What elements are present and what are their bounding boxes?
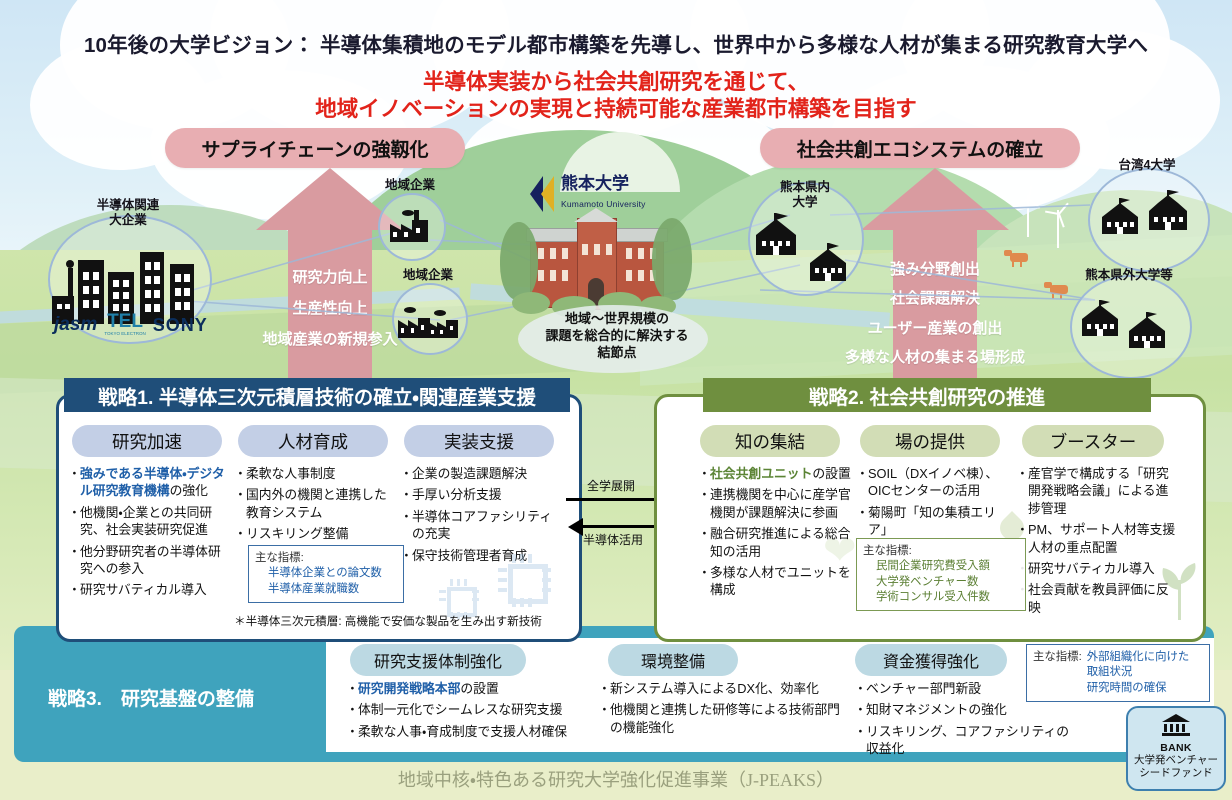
list-item: SOIL（DXイノベ棟）、OICセンターの活用: [858, 465, 1010, 500]
university-icon-taiwan-1: [1098, 198, 1150, 236]
university-icon-outside-2: [1125, 312, 1177, 350]
strategy3-column-environment: 新システム導入によるDX化、効率化 他機関と連携した研修等による技術部門の機能強…: [600, 680, 848, 740]
factory-icon-1: [388, 208, 432, 244]
list-item: 連携機関を中心に産学官機関が課題解決に参画: [700, 486, 852, 521]
strategy3-kpi-label: 主な指標:: [1033, 650, 1082, 665]
list-item: PM、サポート人材等支援人材の重点配置: [1018, 521, 1176, 556]
company-logo-sony: SONY: [153, 315, 208, 336]
strategy1-chip-research-accel: 研究加速: [72, 425, 222, 457]
label-semiconductor-companies: 半導体関連 大企業: [58, 198, 198, 228]
strategy3-kpi-box: 主な指標: 外部組織化に向けた 取組状況 研究時間の確保: [1026, 644, 1210, 702]
strategy2-chip-booster: ブースター: [1022, 425, 1164, 457]
list-item: 研究サバティカル導入: [1018, 560, 1176, 577]
factory-icon-2: [396, 300, 462, 340]
strategy3-kpi-item-2: 研究時間の確保: [1087, 681, 1190, 696]
exchange-label-top: 全学展開: [587, 477, 635, 494]
strategy2-title: 戦略2. 社会共創研究の推進: [703, 378, 1151, 412]
semiconductor-label-line1: 半導体関連: [58, 198, 198, 213]
strategy1-kpi-box: 主な指標: 半導体企業との論文数 半導体産業就職数: [248, 545, 404, 603]
tree-right: [652, 218, 692, 300]
list-item: 多様な人材でユニットを構成: [700, 564, 852, 599]
list-item: 融合研究推進による総合知の活用: [700, 525, 852, 560]
label-taiwan-universities: 台湾4大学: [1090, 158, 1204, 173]
university-icon-outside-1: [1078, 300, 1130, 338]
strategy2-kpi-item-2: 学術コンサル受入件数: [863, 590, 1019, 605]
strategy1-kpi-item-0: 半導体企業との論文数: [255, 566, 397, 581]
strategy2-column-venue: SOIL（DXイノベ棟）、OICセンターの活用 菊陽町「知の集積エリア」: [858, 465, 1010, 543]
list-item: 社会共創ユニットの設置: [700, 465, 852, 482]
strategy1-title: 戦略1. 半導体三次元積層技術の確立・関連産業支援: [64, 378, 570, 412]
list-item: 新システム導入によるDX化、効率化: [600, 680, 848, 697]
strategy2-column-booster: 産官学で構成する「研究開発戦略会議」による進捗管理 PM、サポート人材等支援人材…: [1018, 465, 1176, 620]
list-item: 半導体コアファシリティの充実: [402, 508, 562, 543]
company-logo-tel: TEL: [104, 312, 145, 331]
strategy1-footnote: ＊半導体三次元積層: 高機能で安価な製品を生み出す新技術: [234, 613, 542, 629]
strategy1-chip-implementation: 実装支援: [404, 425, 554, 457]
bank-icon-label: BANK: [1128, 742, 1224, 754]
strategy2-kpi-item-0: 民間企業研究費受入額: [863, 559, 1019, 574]
strategy3-kpi-item-0: 外部組織化に向けた: [1087, 650, 1190, 665]
kumamoto-pref-univ-line2: 大学: [758, 195, 852, 210]
kumamoto-pref-univ-line1: 熊本県内: [758, 180, 852, 195]
strategy3-chip-research-support: 研究支援体制強化: [350, 644, 526, 676]
footer-program-name: 地域中核・特色ある研究大学強化促進事業（J-PEAKS）: [0, 766, 1232, 792]
kumamoto-logo-en: Kumamoto University: [561, 199, 646, 209]
strategy3-title: 戦略3. 研究基盤の整備: [48, 684, 254, 711]
node-caption-line2: 課題を総合的に解決する: [512, 327, 722, 344]
label-kumamoto-pref-universities: 熊本県内 大学: [758, 180, 852, 210]
list-item: 研究開発戦略本部の設置: [348, 680, 580, 697]
list-item: 体制一元化でシームレスな研究支援: [348, 701, 580, 718]
university-building-illustration: [530, 218, 662, 310]
list-item: 他機関と連携した研修等による技術部門の機能強化: [600, 701, 848, 736]
strategy2-chip-knowledge: 知の集結: [700, 425, 840, 457]
strategy3-column-research-support: 研究開発戦略本部の設置 体制一元化でシームレスな研究支援 柔軟な人事・育成制度で…: [348, 680, 580, 744]
semiconductor-label-line2: 大企業: [58, 213, 198, 228]
list-item: 他機関・企業との共同研究、社会実装研究促進: [70, 504, 230, 539]
strategy2-kpi-item-1: 大学発ベンチャー数: [863, 575, 1019, 590]
strategy2-kpi-box: 主な指標: 民間企業研究費受入額 大学発ベンチャー数 学術コンサル受入件数: [856, 538, 1026, 611]
tree-left: [500, 222, 538, 300]
kumamoto-chevron-icon: [530, 176, 556, 212]
list-item: 手厚い分析支援: [402, 486, 562, 503]
exchange-label-bottom: 半導体活用: [583, 531, 643, 548]
list-item: 強みである半導体・デジタル研究教育機構の強化: [70, 465, 230, 500]
list-item: リスキリング、コアファシリティの収益化: [856, 723, 1076, 758]
list-item: 産官学で構成する「研究開発戦略会議」による進捗管理: [1018, 465, 1176, 517]
strategy2-chip-venue: 場の提供: [860, 425, 1000, 457]
university-icon-taiwan-2: [1144, 190, 1200, 232]
bank-glyph: [1161, 713, 1191, 737]
strategy1-column-research-accel: 強みである半導体・デジタル研究教育機構の強化 他機関・企業との共同研究、社会実装…: [70, 465, 230, 603]
strategy3-chip-funding: 資金獲得強化: [855, 644, 1007, 676]
strategy1-kpi-label: 主な指標:: [255, 551, 397, 566]
bank-icon: [1128, 713, 1224, 742]
list-item: 研究サバティカル導入: [70, 581, 230, 598]
kumamoto-university-logo: 熊本大学 Kumamoto University: [530, 175, 646, 212]
strategy2-column-knowledge: 社会共創ユニットの設置 連携機関を中心に産学官機関が課題解決に参画 融合研究推進…: [700, 465, 852, 603]
list-item: 国内外の機関と連携した教育システム: [236, 486, 394, 521]
list-item: 他分野研究者の半導体研究への参入: [70, 543, 230, 578]
node-caption-line3: 結節点: [512, 344, 722, 361]
label-local-company-2: 地域企業: [382, 268, 474, 283]
list-item: 菊陽町「知の集積エリア」: [858, 504, 1010, 539]
strategy1-chip-talent: 人材育成: [238, 425, 388, 457]
list-item: 柔軟な人事制度: [236, 465, 394, 482]
infographic-canvas: 10年後の大学ビジョン： 半導体集積地のモデル都市構築を先導し、世界中から多様な…: [0, 0, 1232, 800]
list-item: リスキリング整備: [236, 525, 394, 542]
strategy2-kpi-label: 主な指標:: [863, 544, 1019, 559]
strategy3-chip-environment: 環境整備: [608, 644, 738, 676]
university-icon-pref-1: [750, 213, 812, 257]
list-item: 社会貢献を教員評価に反映: [1018, 581, 1176, 616]
university-icon-pref-2: [805, 243, 861, 283]
company-logos: jasm TEL TOKYO ELECTRON SONY: [54, 312, 208, 336]
node-caption-line1: 地域～世界規模の: [512, 310, 722, 327]
list-item: 企業の製造課題解決: [402, 465, 562, 482]
node-caption: 地域～世界規模の 課題を総合的に解決する 結節点: [512, 310, 722, 361]
list-item: 知財マネジメントの強化: [856, 701, 1076, 718]
company-logo-jasm: jasm: [54, 314, 97, 336]
company-logo-tel-sub: TOKYO ELECTRON: [104, 331, 145, 336]
label-local-company-1: 地域企業: [368, 178, 452, 193]
list-item: 柔軟な人事・育成制度で支援人材確保: [348, 723, 580, 740]
microchip-icon-large: [496, 552, 552, 608]
label-outside-pref-universities: 熊本県外大学等: [1062, 268, 1196, 283]
strategy3-kpi-item-1: 取組状況: [1087, 665, 1190, 680]
strategy1-column-talent: 柔軟な人事制度 国内外の機関と連携した教育システム リスキリング整備: [236, 465, 394, 547]
kumamoto-logo-jp: 熊本大学: [561, 174, 629, 193]
strategy1-kpi-item-1: 半導体産業就職数: [255, 582, 397, 597]
